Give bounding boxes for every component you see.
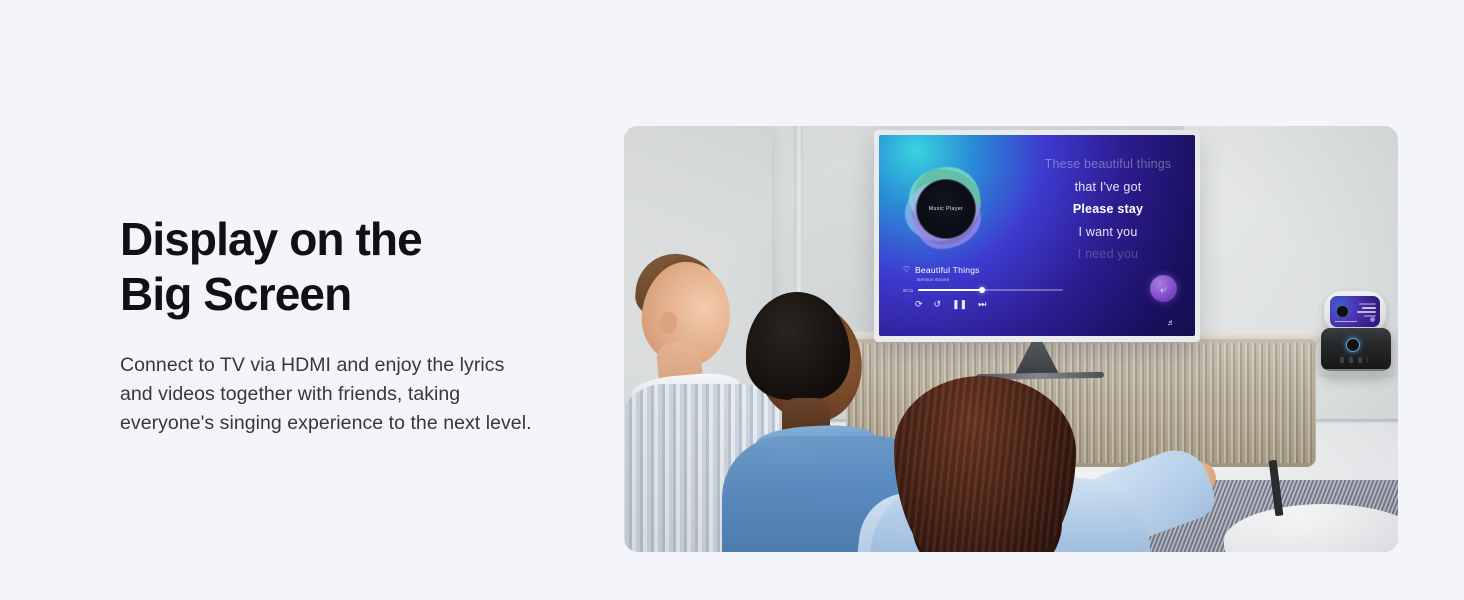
copy-block: Display on the Big Screen Connect to TV …	[120, 212, 590, 438]
lyrics-panel: These beautiful things that I've got Ple…	[1019, 157, 1195, 261]
now-playing-bar: ♡ Beautiful Things Benson Boone 00:11 ⟳	[903, 265, 1063, 309]
lyric-line: I want you	[1019, 225, 1195, 239]
back-arrow-icon[interactable]: ⤶	[1150, 275, 1177, 302]
body-line-2: and videos together with friends, taking	[120, 380, 590, 409]
progress-row[interactable]: 00:11	[903, 288, 1063, 293]
pause-icon[interactable]: ❚❚	[952, 300, 967, 309]
playlist-music-icon[interactable]: ♬	[1167, 318, 1175, 327]
speaker-lyric-line	[1357, 311, 1376, 313]
speaker-control-keys[interactable]	[1340, 357, 1368, 363]
progress-fill	[918, 289, 982, 291]
speaker-screen	[1330, 296, 1380, 327]
song-title-row: ♡ Beautiful Things	[903, 265, 1063, 275]
back-arrow-glyph: ⤶	[1160, 282, 1167, 295]
speaker-album-disc	[1336, 305, 1349, 318]
body-line-1: Connect to TV via HDMI and enjoy the lyr…	[120, 351, 590, 380]
album-disc: Music Player	[916, 179, 976, 239]
speaker-back-icon	[1370, 317, 1375, 322]
music-player-label: Music Player	[929, 206, 964, 212]
progress-knob[interactable]	[979, 287, 985, 293]
song-title: Beautiful Things	[915, 265, 980, 275]
lyric-line: I need you	[1019, 247, 1195, 261]
music-visualizer: Music Player	[903, 165, 989, 251]
next-icon[interactable]: ⏭	[978, 300, 986, 309]
replay-icon[interactable]: ↺	[934, 300, 942, 309]
page-title: Display on the Big Screen	[120, 212, 590, 322]
progress-track[interactable]	[918, 289, 1063, 291]
speaker-lyric-line	[1364, 315, 1376, 317]
person-left-ear	[660, 312, 677, 334]
lyric-line: that I've got	[1019, 180, 1195, 194]
song-artist: Benson Boone	[917, 277, 1063, 282]
tv-screen: Music Player These beautiful things that…	[879, 135, 1195, 336]
promo-section: Display on the Big Screen Connect to TV …	[0, 0, 1464, 600]
lyric-line-active: Please stay	[1019, 202, 1195, 216]
shuffle-icon[interactable]: ⟳	[915, 300, 923, 309]
lifestyle-photo: Music Player These beautiful things that…	[624, 126, 1398, 552]
elapsed-time: 00:11	[903, 288, 913, 293]
television: Music Player These beautiful things that…	[874, 130, 1200, 342]
speaker-progress-bar	[1335, 321, 1357, 322]
transport-controls[interactable]: ⟳ ↺ ❚❚ ⏭	[915, 300, 1063, 309]
headline-line-2: Big Screen	[120, 267, 590, 322]
headline-line-1: Display on the	[120, 212, 590, 267]
body-line-3: everyone's singing experience to the nex…	[120, 409, 590, 438]
speaker-base-shadow	[1318, 369, 1396, 377]
body-copy: Connect to TV via HDMI and enjoy the lyr…	[120, 351, 590, 438]
lyric-line: These beautiful things	[1019, 157, 1195, 171]
speaker-lyric-line	[1362, 307, 1376, 309]
speaker-lyric-line	[1359, 303, 1376, 305]
heart-outline-icon[interactable]: ♡	[903, 266, 911, 274]
person-right-hair	[894, 376, 1076, 552]
speaker-light-ring	[1346, 338, 1360, 352]
